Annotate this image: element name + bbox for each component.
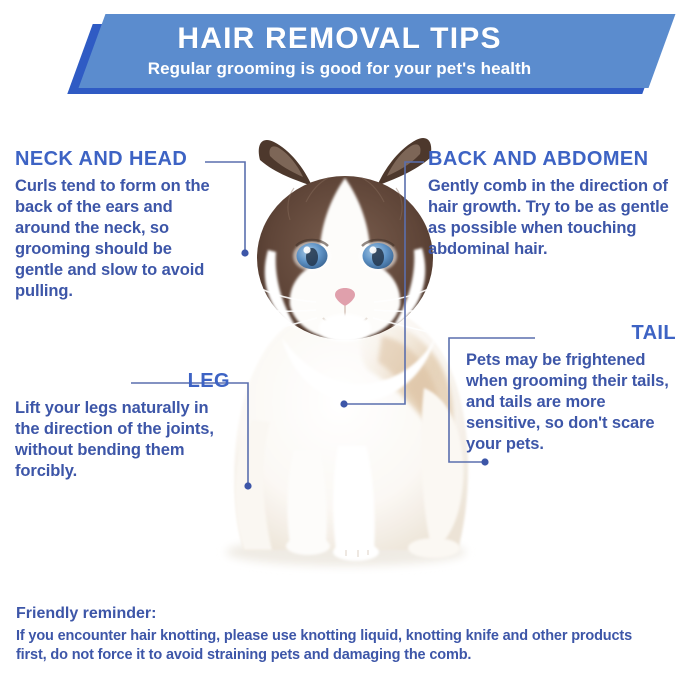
callout-title-leg: LEG [15,370,230,392]
callout-tail: TAIL Pets may be frightened when groomin… [466,322,676,455]
callout-title-tail: TAIL [466,322,676,344]
page-title: HAIR REMOVAL TIPS [177,23,501,55]
callout-body-back-and-abdomen: Gently comb in the direction of hair gro… [428,176,676,260]
callout-title-neck-and-head: NECK AND HEAD [15,148,220,170]
footer-reminder: Friendly reminder: If you encounter hair… [16,604,666,666]
header-banner: HAIR REMOVAL TIPS Regular grooming is go… [0,8,679,94]
callout-body-tail: Pets may be frightened when grooming the… [466,350,676,455]
callout-back-and-abdomen: BACK AND ABDOMEN Gently comb in the dire… [428,148,676,260]
footer-title: Friendly reminder: [16,604,666,625]
banner-text-group: HAIR REMOVAL TIPS Regular grooming is go… [0,14,679,88]
page-subtitle: Regular grooming is good for your pet's … [148,59,532,79]
infographic-page: HAIR REMOVAL TIPS Regular grooming is go… [0,0,679,679]
callout-leg: LEG Lift your legs naturally in the dire… [15,370,230,482]
footer-body: If you encounter hair knotting, please u… [16,627,666,666]
callout-body-leg: Lift your legs naturally in the directio… [15,398,230,482]
callout-neck-and-head: NECK AND HEAD Curls tend to form on the … [15,148,220,302]
callout-body-neck-and-head: Curls tend to form on the back of the ea… [15,176,220,302]
callout-title-back-and-abdomen: BACK AND ABDOMEN [428,148,676,170]
